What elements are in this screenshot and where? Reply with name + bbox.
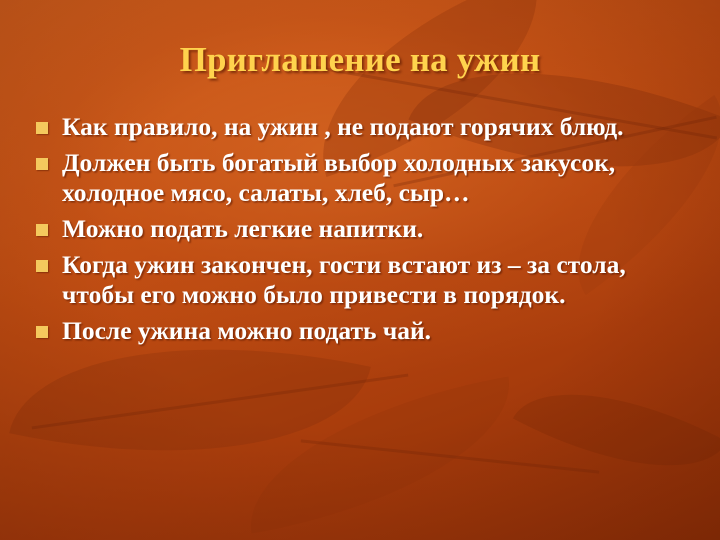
stem-decoration-3 (32, 374, 409, 430)
square-bullet-icon (36, 326, 48, 338)
bullet-list: Как правило, на ужин , не подают горячих… (28, 112, 698, 353)
leaf-decoration-6 (513, 348, 720, 513)
list-item-text: После ужина можно подать чай. (62, 316, 698, 346)
stem-decoration-4 (301, 439, 600, 473)
list-item-text: Когда ужин закончен, гости встают из – з… (62, 250, 698, 310)
square-bullet-icon (36, 260, 48, 272)
list-item: Можно подать легкие напитки. (28, 214, 698, 244)
list-item: Когда ужин закончен, гости встают из – з… (28, 250, 698, 310)
list-item: Как правило, на ужин , не подают горячих… (28, 112, 698, 142)
list-item-text: Можно подать легкие напитки. (62, 214, 698, 244)
presentation-slide: Приглашение на ужин Как правило, на ужин… (0, 0, 720, 540)
list-item-text: Как правило, на ужин , не подают горячих… (62, 112, 698, 142)
list-item: После ужина можно подать чай. (28, 316, 698, 346)
square-bullet-icon (36, 158, 48, 170)
leaf-decoration-5 (233, 377, 528, 534)
list-item: Должен быть богатый выбор холодных закус… (28, 148, 698, 208)
slide-title: Приглашение на ужин (0, 40, 720, 80)
square-bullet-icon (36, 224, 48, 236)
list-item-text: Должен быть богатый выбор холодных закус… (62, 148, 698, 208)
square-bullet-icon (36, 122, 48, 134)
